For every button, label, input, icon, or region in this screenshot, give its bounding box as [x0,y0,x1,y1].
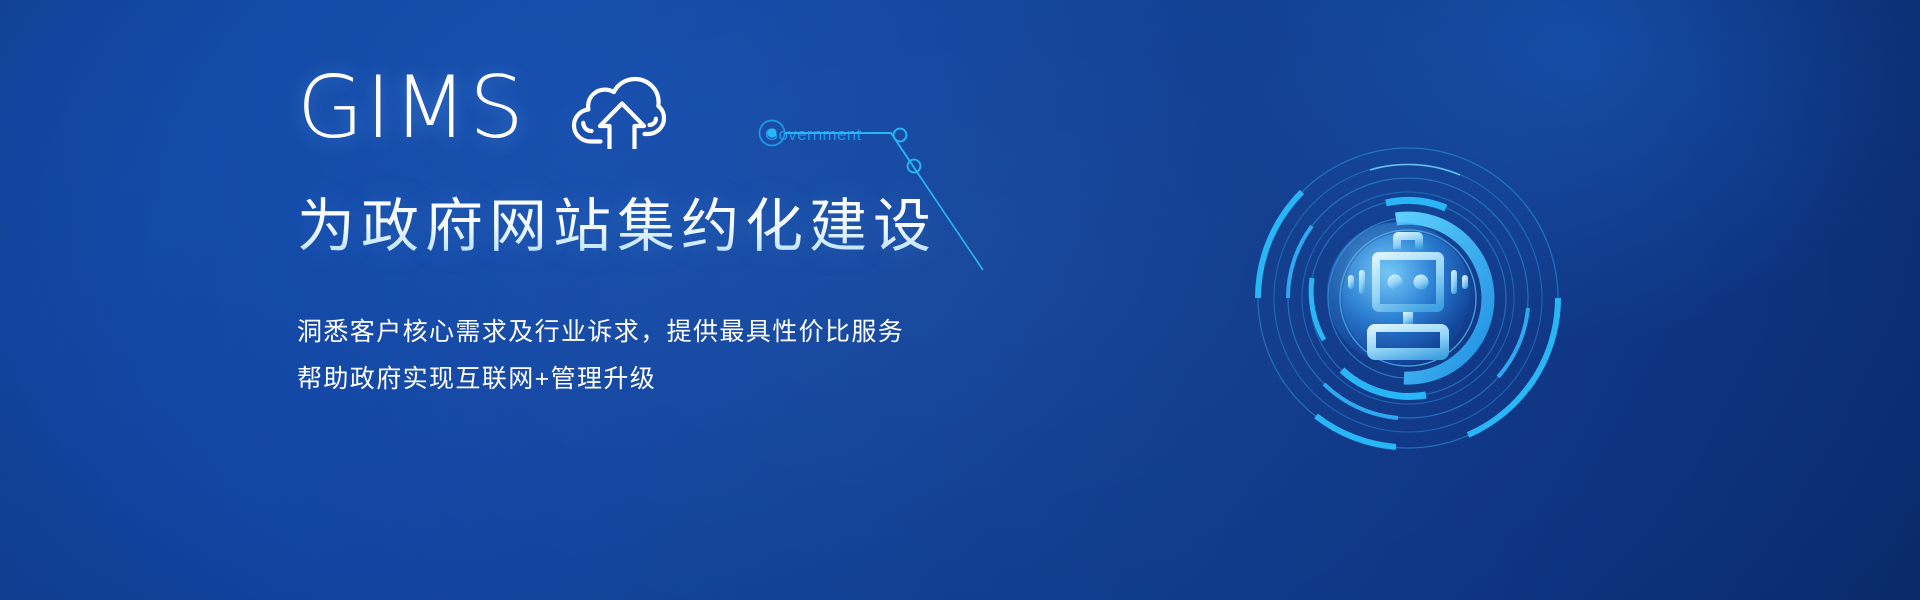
cloud-upload-icon [570,75,666,154]
subline-1: 洞悉客户核心需求及行业诉求，提供最具性价比服务 [297,309,1057,356]
subline-2: 帮助政府实现互联网+管理升级 [297,356,1057,403]
brand-title: GIMS [297,62,526,154]
connector-line [750,70,1020,300]
robot-icon [1335,228,1481,368]
hero-graphic: Government [1180,70,1640,530]
hero-banner: GIMS 为政府网站集约化建设 洞悉客户核心需求及行业诉求，提供最具性价比服务 … [0,0,1920,600]
